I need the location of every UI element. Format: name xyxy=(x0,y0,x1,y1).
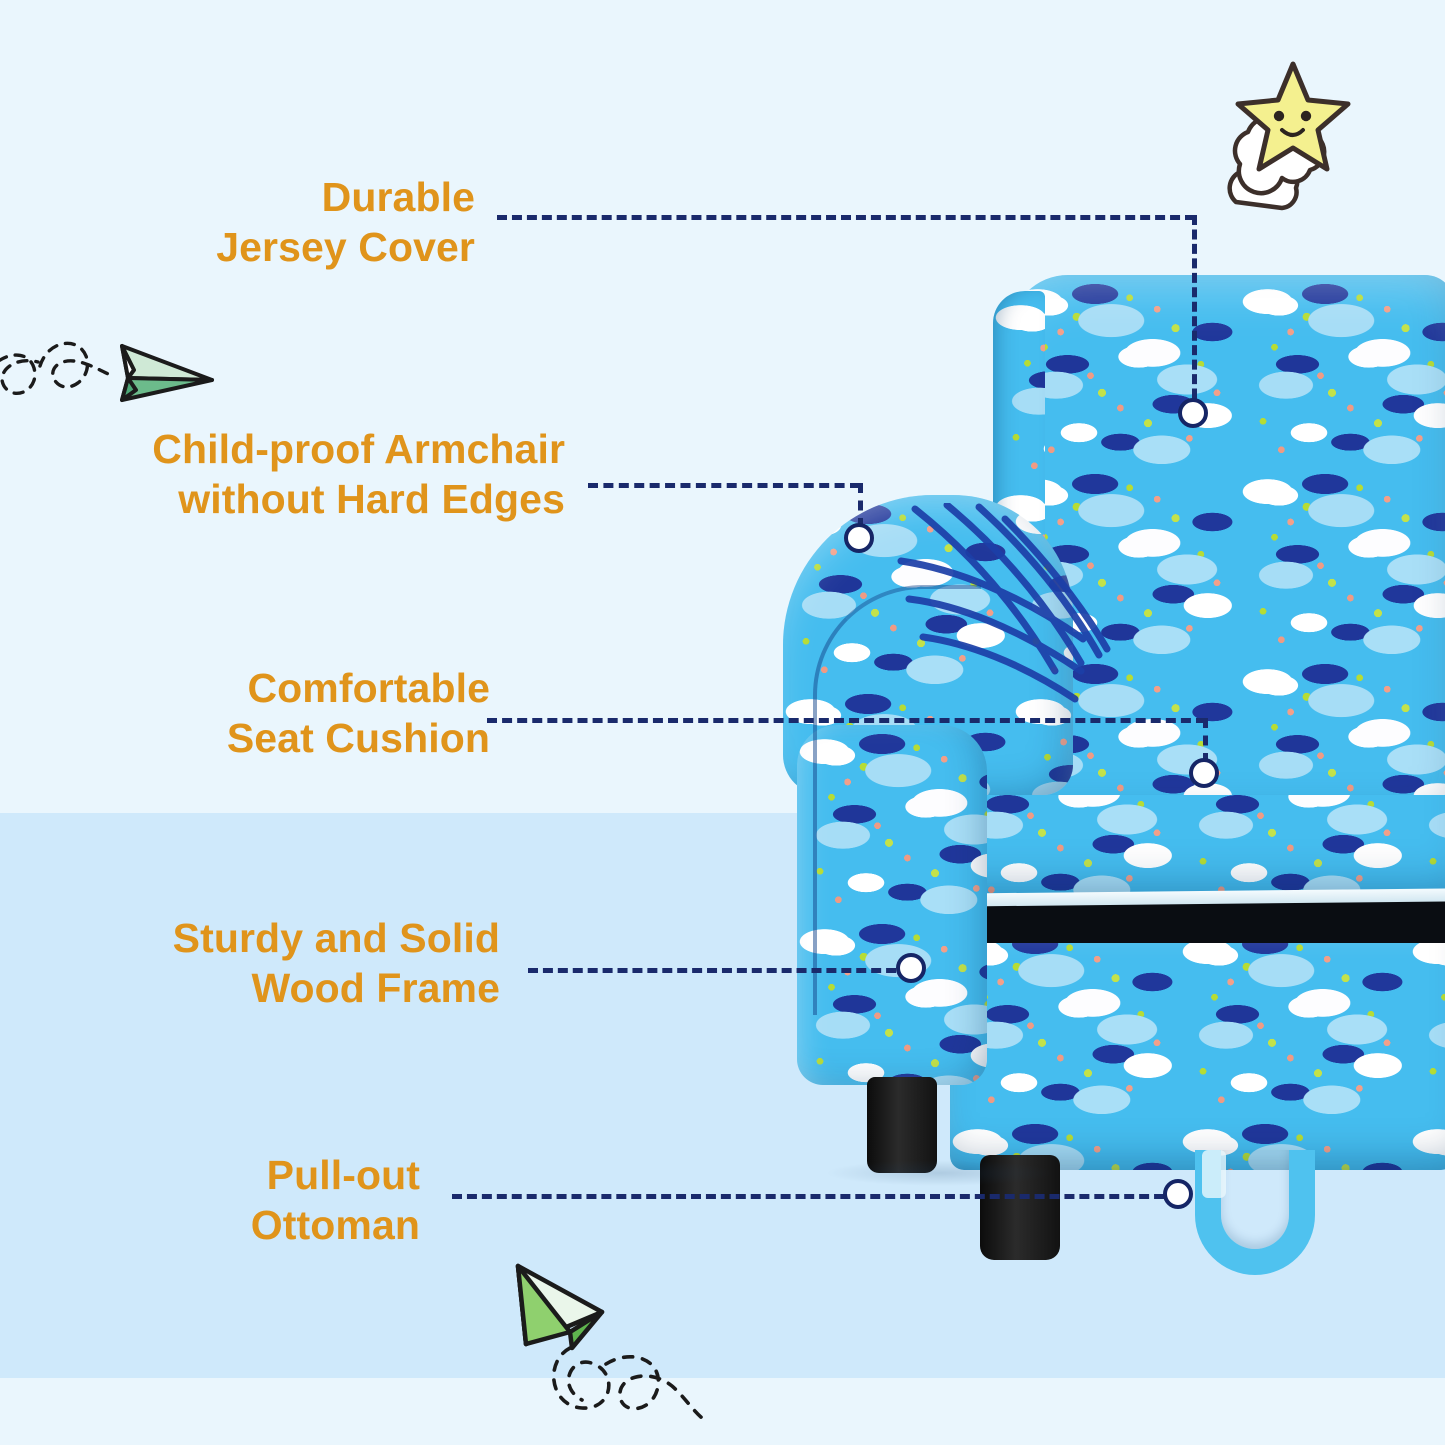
marker-dot-comfortable-seat-cushion[interactable] xyxy=(1189,758,1219,788)
callout-label-sturdy-wood-frame: Sturdy and Solid Wood Frame xyxy=(60,913,500,1013)
leader-line-cushion-h xyxy=(487,718,1206,723)
callout-line-2: Seat Cushion xyxy=(100,713,490,763)
paper-airplane-top-icon xyxy=(0,318,239,438)
marker-dot-durable-jersey-cover[interactable] xyxy=(1178,398,1208,428)
callout-line-1: Sturdy and Solid xyxy=(60,913,500,963)
armchair-ground-shadow xyxy=(825,1160,1055,1186)
armrest-inner-seam xyxy=(813,585,981,1015)
leader-line-durable-v xyxy=(1192,215,1197,413)
leader-line-woodframe-h xyxy=(528,968,911,973)
ottoman-pull-strap-highlight xyxy=(1202,1150,1226,1198)
infographic-canvas: Durable Jersey Cover Child-proof Armchai… xyxy=(0,0,1445,1445)
callout-line-2: Wood Frame xyxy=(60,963,500,1013)
callout-line-1: Pull-out xyxy=(110,1150,420,1200)
paper-airplane-bottom-icon xyxy=(486,1236,716,1445)
callout-line-2: without Hard Edges xyxy=(20,474,565,524)
leader-line-durable-h xyxy=(497,215,1195,220)
armchair-leg-front xyxy=(867,1077,937,1173)
leader-line-cushion-v xyxy=(1203,718,1208,763)
callout-label-pull-out-ottoman: Pull-out Ottoman xyxy=(110,1150,420,1250)
marker-dot-child-proof-armchair[interactable] xyxy=(844,523,874,553)
leader-line-ottoman-h xyxy=(452,1194,1179,1199)
leader-line-childproof-h xyxy=(588,483,860,488)
callout-line-2: Jersey Cover xyxy=(110,222,475,272)
callout-label-durable-jersey-cover: Durable Jersey Cover xyxy=(110,172,475,272)
leader-line-childproof-v xyxy=(858,483,863,528)
smiling-star-on-clouds-icon xyxy=(1200,52,1390,232)
background-band-bottom xyxy=(0,1378,1445,1445)
callout-line-1: Durable xyxy=(110,172,475,222)
marker-dot-sturdy-wood-frame[interactable] xyxy=(896,953,926,983)
callout-line-2: Ottoman xyxy=(110,1200,420,1250)
callout-label-comfortable-seat-cushion: Comfortable Seat Cushion xyxy=(100,663,490,763)
callout-label-child-proof-armchair: Child-proof Armchair without Hard Edges xyxy=(20,424,565,524)
ottoman-body xyxy=(950,925,1445,1170)
callout-line-1: Child-proof Armchair xyxy=(20,424,565,474)
marker-dot-pull-out-ottoman[interactable] xyxy=(1163,1179,1193,1209)
callout-line-1: Comfortable xyxy=(100,663,490,713)
product-image-armchair xyxy=(735,255,1445,1385)
